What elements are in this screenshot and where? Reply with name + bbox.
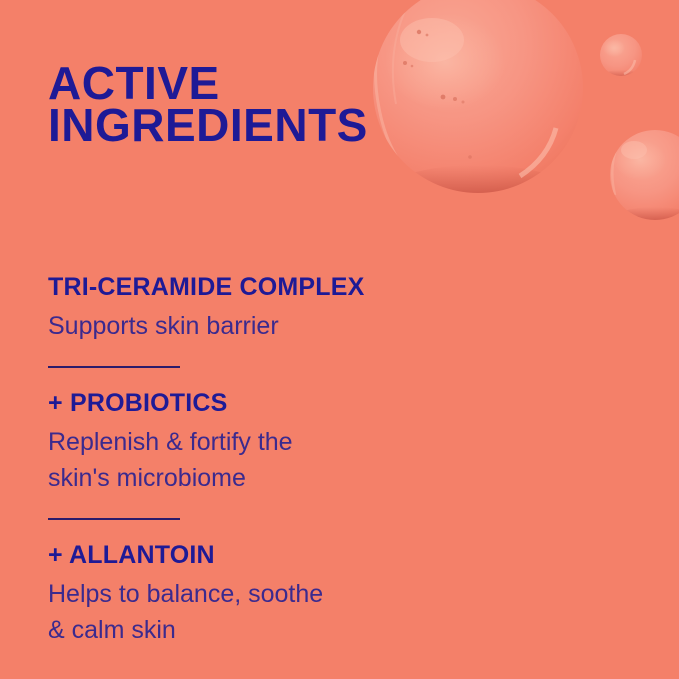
small-droplet [597,34,645,90]
ingredient-description-line-1: Helps to balance, soothe [48,576,508,612]
ingredient-description: Replenish & fortify the skin's microbiom… [48,424,508,496]
ingredient-description-line-1: Supports skin barrier [48,308,508,344]
ingredient-list: TRI-CERAMIDE COMPLEX Supports skin barri… [48,272,508,648]
ingredient-heading: + ALLANTOIN [48,540,508,570]
active-ingredients-poster: ACTIVE INGREDIENTS TRI-CERAMIDE COMPLEX … [0,0,679,679]
ingredient-item-tri-ceramide-complex: TRI-CERAMIDE COMPLEX Supports skin barri… [48,272,508,344]
ingredient-description-line-1: Replenish & fortify the [48,424,508,460]
ingredient-description: Helps to balance, soothe & calm skin [48,576,508,648]
page-title-line-2: INGREDIENTS [48,104,448,146]
ingredient-item-probiotics: + PROBIOTICS Replenish & fortify the ski… [48,388,508,496]
medium-droplet [605,130,679,243]
page-title: ACTIVE INGREDIENTS [48,62,448,146]
ingredient-description-line-2: & calm skin [48,612,508,648]
section-divider-1 [48,366,180,368]
section-divider-2 [48,518,180,520]
ingredient-item-allantoin: + ALLANTOIN Helps to balance, soothe & c… [48,540,508,648]
ingredient-heading: TRI-CERAMIDE COMPLEX [48,272,508,302]
ingredient-description: Supports skin barrier [48,308,508,344]
page-title-line-1: ACTIVE [48,62,448,104]
ingredient-description-line-2: skin's microbiome [48,460,508,496]
ingredient-heading: + PROBIOTICS [48,388,508,418]
